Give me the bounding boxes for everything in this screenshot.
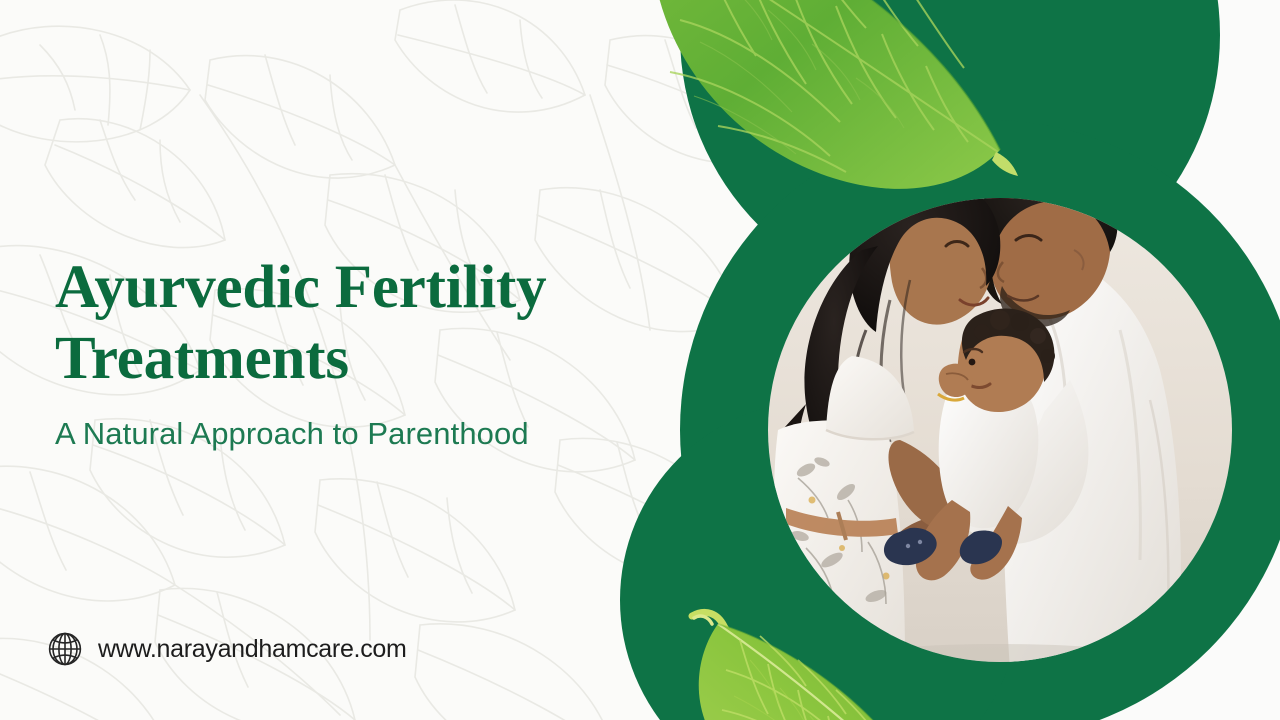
- headline-line-1: Ayurvedic Fertility: [55, 252, 655, 323]
- headline-line-2: Treatments: [55, 323, 655, 394]
- headline-text: Ayurvedic Fertility Treatments: [55, 252, 655, 394]
- footer-website[interactable]: www.narayandhamcare.com: [46, 630, 407, 668]
- poster-canvas: Ayurvedic Fertility Treatments A Natural…: [0, 0, 1280, 720]
- subtitle-text: A Natural Approach to Parenthood: [55, 415, 529, 453]
- globe-icon: [46, 630, 84, 668]
- website-url-label: www.narayandhamcare.com: [98, 635, 407, 664]
- artwork-click-region: [640, 0, 1280, 720]
- page-title: Ayurvedic Fertility Treatments: [55, 252, 655, 394]
